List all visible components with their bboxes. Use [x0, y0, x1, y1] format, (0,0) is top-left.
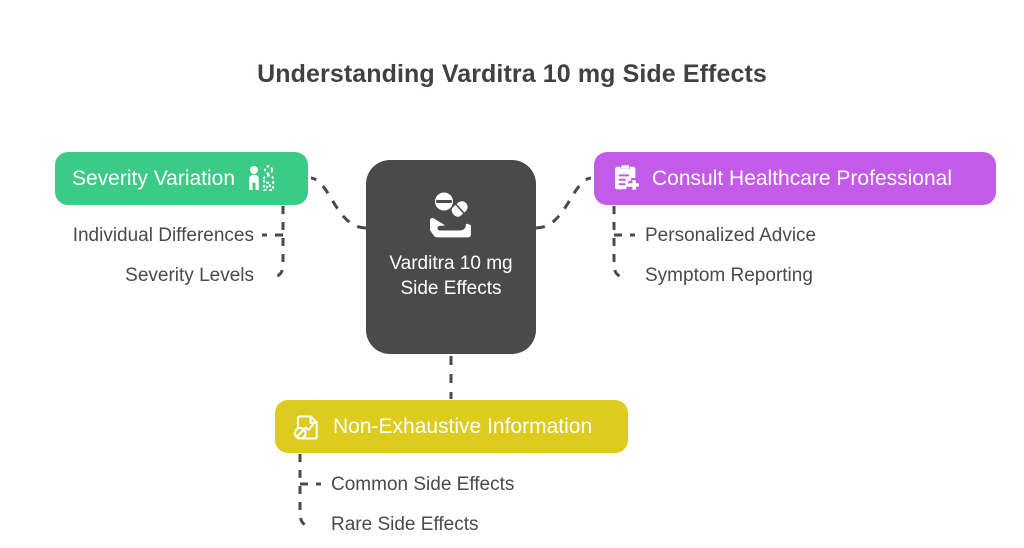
leaf-individual-differences: Individual Differences [0, 225, 254, 247]
mindmap-canvas: Understanding Varditra 10 mg Side Effect… [0, 0, 1024, 548]
leaf-common-side-effects: Common Side Effects [331, 474, 514, 496]
connector-severity-spine [271, 206, 283, 278]
connector-center-to-severity [311, 178, 366, 228]
no-document-chart-icon [292, 412, 322, 442]
center-node[interactable]: Varditra 10 mg Side Effects [366, 160, 536, 354]
two-people-icon [246, 164, 276, 194]
connector-nonexhaustive-spine [300, 454, 312, 527]
branch-node-severity-variation[interactable]: Severity Variation [55, 152, 308, 205]
connector-consult-spine [614, 206, 626, 278]
branch-label-non-exhaustive-information: Non-Exhaustive Information [333, 415, 592, 439]
center-node-label: Varditra 10 mg Side Effects [381, 251, 521, 301]
leaf-rare-side-effects: Rare Side Effects [331, 514, 479, 536]
leaf-severity-levels: Severity Levels [0, 265, 254, 287]
leaf-symptom-reporting: Symptom Reporting [645, 265, 813, 287]
branch-node-consult-healthcare-professional[interactable]: Consult Healthcare Professional [594, 152, 996, 205]
leaf-personalized-advice: Personalized Advice [645, 225, 816, 247]
clipboard-medical-icon [611, 164, 641, 194]
hand-holding-pills-icon [424, 192, 478, 242]
branch-label-severity-variation: Severity Variation [72, 167, 235, 191]
branch-node-non-exhaustive-information[interactable]: Non-Exhaustive Information [275, 400, 628, 453]
connector-center-to-consult [536, 178, 591, 228]
branch-label-consult-healthcare-professional: Consult Healthcare Professional [652, 167, 952, 191]
page-title: Understanding Varditra 10 mg Side Effect… [0, 60, 1024, 89]
